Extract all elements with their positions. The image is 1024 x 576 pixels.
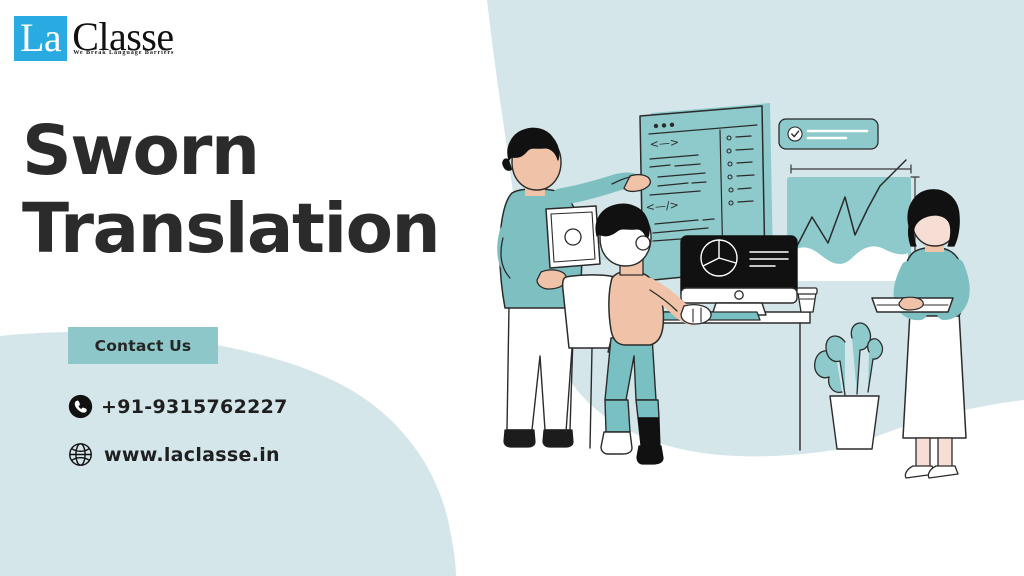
globe-icon [68,442,93,467]
headline-line-1: Sworn [22,112,439,190]
contact-us-button[interactable]: Contact Us [68,327,218,364]
contact-phone[interactable]: +91-9315762227 [68,394,288,419]
logo-la-box: La [14,16,67,61]
phone-icon [68,394,93,419]
website-url: www.laclasse.in [104,444,280,466]
logo-tagline: We Break Language Barriers [73,49,174,56]
brand-logo[interactable]: La Classe We Break Language Barriers [14,16,174,62]
contact-website[interactable]: www.laclasse.in [68,442,280,467]
headline-line-2: Translation [22,190,439,268]
phone-number: +91-9315762227 [101,396,288,418]
page-title: Sworn Translation [22,112,439,268]
marketing-banner: <—> <—/> [0,0,1024,576]
logo-wordmark: Classe We Break Language Barriers [67,16,173,58]
